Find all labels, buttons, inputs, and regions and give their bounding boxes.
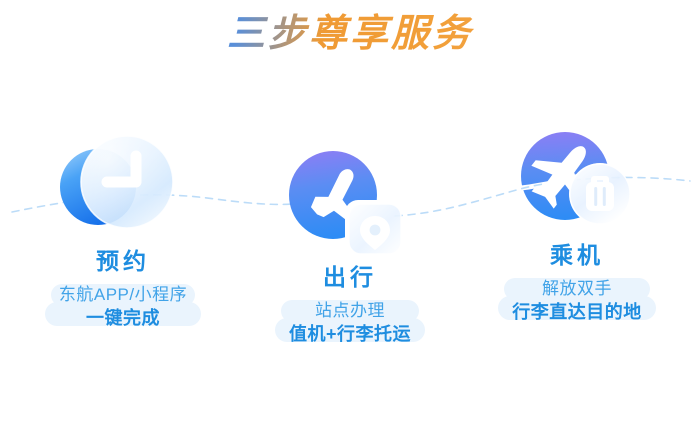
step-title: 出行 <box>237 262 463 292</box>
airplane-location-icon <box>270 140 430 258</box>
step-title: 乘机 <box>464 240 690 270</box>
step-labels: 乘机 解放双手 行李直达目的地 <box>464 240 690 328</box>
step-labels: 预约 东航APP/小程序 一键完成 <box>10 246 236 334</box>
steps-container: 预约 东航APP/小程序 一键完成 <box>0 118 700 378</box>
step-travel[interactable]: 出行 站点办理 值机+行李托运 <box>237 140 463 350</box>
step-subtitle-line-2: 行李直达目的地 <box>512 300 642 324</box>
step-subtitle-line-1: 解放双手 <box>512 278 642 300</box>
step-subtitle-group: 东航APP/小程序 一键完成 <box>49 282 197 334</box>
step-subtitle-line-1: 站点办理 <box>289 300 411 322</box>
step-reserve[interactable]: 预约 东航APP/小程序 一键完成 <box>10 124 236 334</box>
step-subtitle-line-1: 东航APP/小程序 <box>59 284 187 306</box>
clock-icon <box>43 124 203 242</box>
step-subtitle-line-2: 值机+行李托运 <box>289 322 411 346</box>
step-title: 预约 <box>10 246 236 276</box>
step-subtitle-group: 站点办理 值机+行李托运 <box>279 298 421 350</box>
step-board[interactable]: 乘机 解放双手 行李直达目的地 <box>464 118 690 328</box>
step-labels: 出行 站点办理 值机+行李托运 <box>237 262 463 350</box>
step-subtitle-line-2: 一键完成 <box>59 306 187 330</box>
step-subtitle-group: 解放双手 行李直达目的地 <box>502 276 652 328</box>
airplane-luggage-icon <box>497 118 657 236</box>
page-title: 三步尊享服务 <box>0 8 700 60</box>
